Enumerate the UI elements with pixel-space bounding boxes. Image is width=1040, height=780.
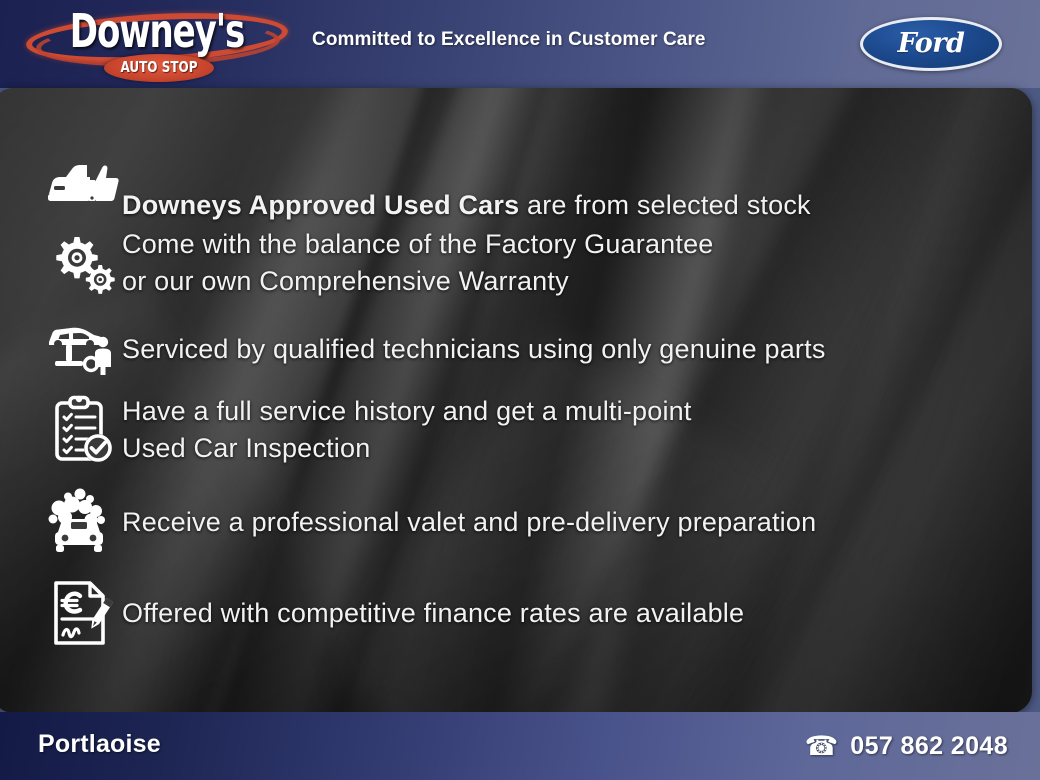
car-on-lift-mechanic-icon <box>44 320 122 378</box>
feature-text-finance-rates: Offered with competitive finance rates a… <box>122 595 744 632</box>
feature-item-serviced-by-technicians: Serviced by qualified technicians using … <box>44 320 826 378</box>
euro-document-pen-icon <box>44 578 122 648</box>
ford-logo-text: Ford <box>898 28 965 59</box>
feature-text-rest: are from selected stock <box>519 190 810 220</box>
feature-item-valet-preparation: Receive a professional valet and pre-del… <box>44 488 816 556</box>
feature-text-serviced-by-technicians: Serviced by qualified technicians using … <box>122 331 826 368</box>
logo-sub-text: AUTO STOP <box>115 58 203 77</box>
feature-item-factory-guarantee: Come with the balance of the Factory Gua… <box>44 226 714 300</box>
clipboard-checklist-icon <box>44 395 122 465</box>
header-tagline: Committed to Excellence in Customer Care <box>312 29 706 51</box>
downeys-logo[interactable]: Downey's AUTO STOP <box>22 4 292 84</box>
logo-brand-text: Downey's <box>57 6 257 56</box>
header-bar: Downey's AUTO STOP Committed to Excellen… <box>0 0 1040 88</box>
feature-item-service-history: Have a full service history and get a mu… <box>44 393 692 467</box>
feature-item-finance-rates: Offered with competitive finance rates a… <box>44 578 744 648</box>
feature-item-approved-used-cars: Downeys Approved Used Cars are from sele… <box>44 150 811 224</box>
car-thumbs-up-icon <box>44 160 122 214</box>
features-panel: Downeys Approved Used Cars are from sele… <box>0 88 1032 713</box>
advert-banner: Downey's AUTO STOP Committed to Excellen… <box>0 0 1040 780</box>
car-wash-bubbles-icon <box>44 488 122 556</box>
footer-phone-number[interactable]: 057 862 2048 <box>850 732 1008 761</box>
feature-text-approved-used-cars: Downeys Approved Used Cars are from sele… <box>122 150 811 224</box>
ford-logo[interactable]: Ford <box>860 17 1002 71</box>
feature-text-valet-preparation: Receive a professional valet and pre-del… <box>122 504 816 541</box>
footer-contact[interactable]: ☎ 057 862 2048 <box>805 731 1008 761</box>
gears-icon <box>44 232 122 294</box>
phone-icon: ☎ <box>805 731 839 761</box>
footer-location-label: Portlaoise <box>38 730 161 759</box>
footer-bar: Portlaoise ☎ 057 862 2048 <box>0 712 1040 780</box>
feature-list: Downeys Approved Used Cars are from sele… <box>0 88 1032 713</box>
feature-text-service-history: Have a full service history and get a mu… <box>122 393 692 467</box>
feature-text-factory-guarantee: Come with the balance of the Factory Gua… <box>122 226 714 300</box>
feature-text-bold: Downeys Approved Used Cars <box>122 190 519 220</box>
